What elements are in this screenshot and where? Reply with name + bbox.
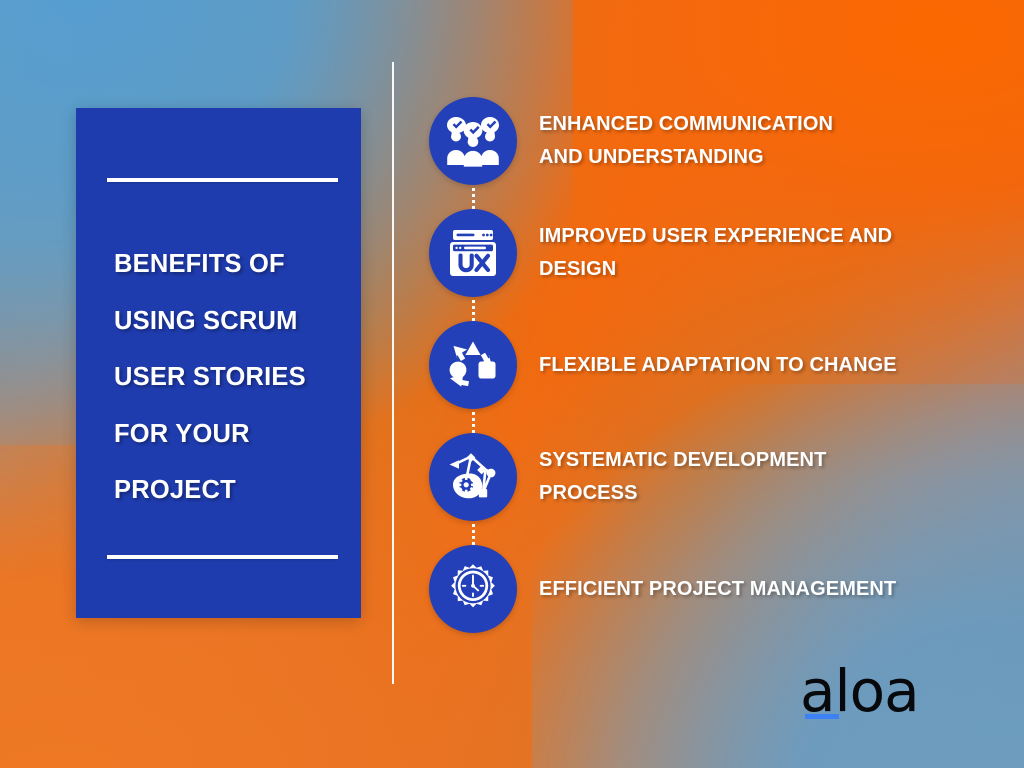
infographic-canvas: BENEFITS OF USING SCRUM USER STORIES FOR… <box>0 0 1024 768</box>
benefit-label-5: EFFICIENT PROJECT MANAGEMENT <box>539 573 896 606</box>
benefit-label-3: FLEXIBLE ADAPTATION TO CHANGE <box>539 349 897 382</box>
benefit-icon-circle-4 <box>429 433 517 521</box>
benefit-label-1: ENHANCED COMMUNICATION AND UNDERSTANDING <box>539 108 833 174</box>
benefit-label-2: IMPROVED USER EXPERIENCE AND DESIGN <box>539 220 892 286</box>
benefit-icon-circle-5 <box>429 545 517 633</box>
benefit-label-4: SYSTEMATIC DEVELOPMENT PROCESS <box>539 444 826 510</box>
people-chat-check-icon <box>445 115 501 167</box>
aloa-logo[interactable]: aloa <box>800 662 940 728</box>
logo-accent-underline <box>805 714 839 719</box>
benefit-item-4[interactable]: SYSTEMATIC DEVELOPMENT PROCESS <box>429 433 949 521</box>
shapes-cycle-arrows-icon <box>447 339 499 391</box>
benefit-icon-circle-3 <box>429 321 517 409</box>
ux-browser-window-icon <box>447 227 499 279</box>
gear-clock-icon <box>447 563 499 615</box>
benefits-list: ENHANCED COMMUNICATION AND UNDERSTANDING <box>0 0 1024 768</box>
benefit-item-2[interactable]: IMPROVED USER EXPERIENCE AND DESIGN <box>429 209 949 297</box>
benefit-item-3[interactable]: FLEXIBLE ADAPTATION TO CHANGE <box>429 321 949 409</box>
benefit-item-1[interactable]: ENHANCED COMMUNICATION AND UNDERSTANDING <box>429 97 949 185</box>
network-nodes-gear-icon <box>447 451 499 503</box>
benefit-icon-circle-1 <box>429 97 517 185</box>
benefit-icon-circle-2 <box>429 209 517 297</box>
logo-wordmark: aloa <box>800 662 940 720</box>
benefit-item-5[interactable]: EFFICIENT PROJECT MANAGEMENT <box>429 545 949 633</box>
